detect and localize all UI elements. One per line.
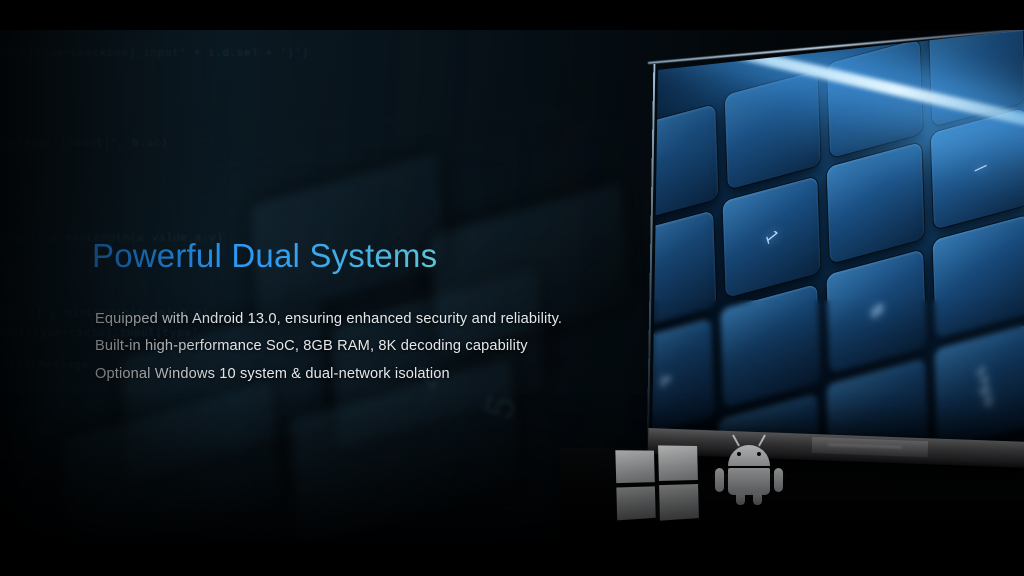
- feature-item: Equipped with Android 13.0, ensuring enh…: [95, 306, 612, 333]
- letterbox-bottom: [0, 543, 1024, 576]
- windows-logo-reflection: [615, 490, 698, 521]
- android-eye: [737, 452, 741, 456]
- copy-block: Powerful Dual Systems Equipped with Andr…: [92, 235, 612, 388]
- android-antenna: [758, 434, 766, 446]
- letterbox-top: [0, 0, 1024, 30]
- android-eye: [757, 452, 761, 456]
- android-head: [728, 445, 770, 466]
- android-logo-reflection: [712, 474, 786, 504]
- slide-stage: 4 5 input[type=checkbox],input' + i.d.se…: [0, 30, 1024, 543]
- slide-root: 4 5 input[type=checkbox],input' + i.d.se…: [0, 0, 1024, 576]
- feature-item: Built-in high-performance SoC, 8GB RAM, …: [95, 333, 612, 360]
- feature-list: Equipped with Android 13.0, ensuring enh…: [95, 306, 612, 387]
- windows-pane: [615, 450, 654, 483]
- headline: Powerful Dual Systems: [92, 235, 612, 276]
- windows-pane: [658, 445, 698, 481]
- android-antenna: [732, 434, 740, 446]
- feature-item: Optional Windows 10 system & dual-networ…: [95, 361, 612, 388]
